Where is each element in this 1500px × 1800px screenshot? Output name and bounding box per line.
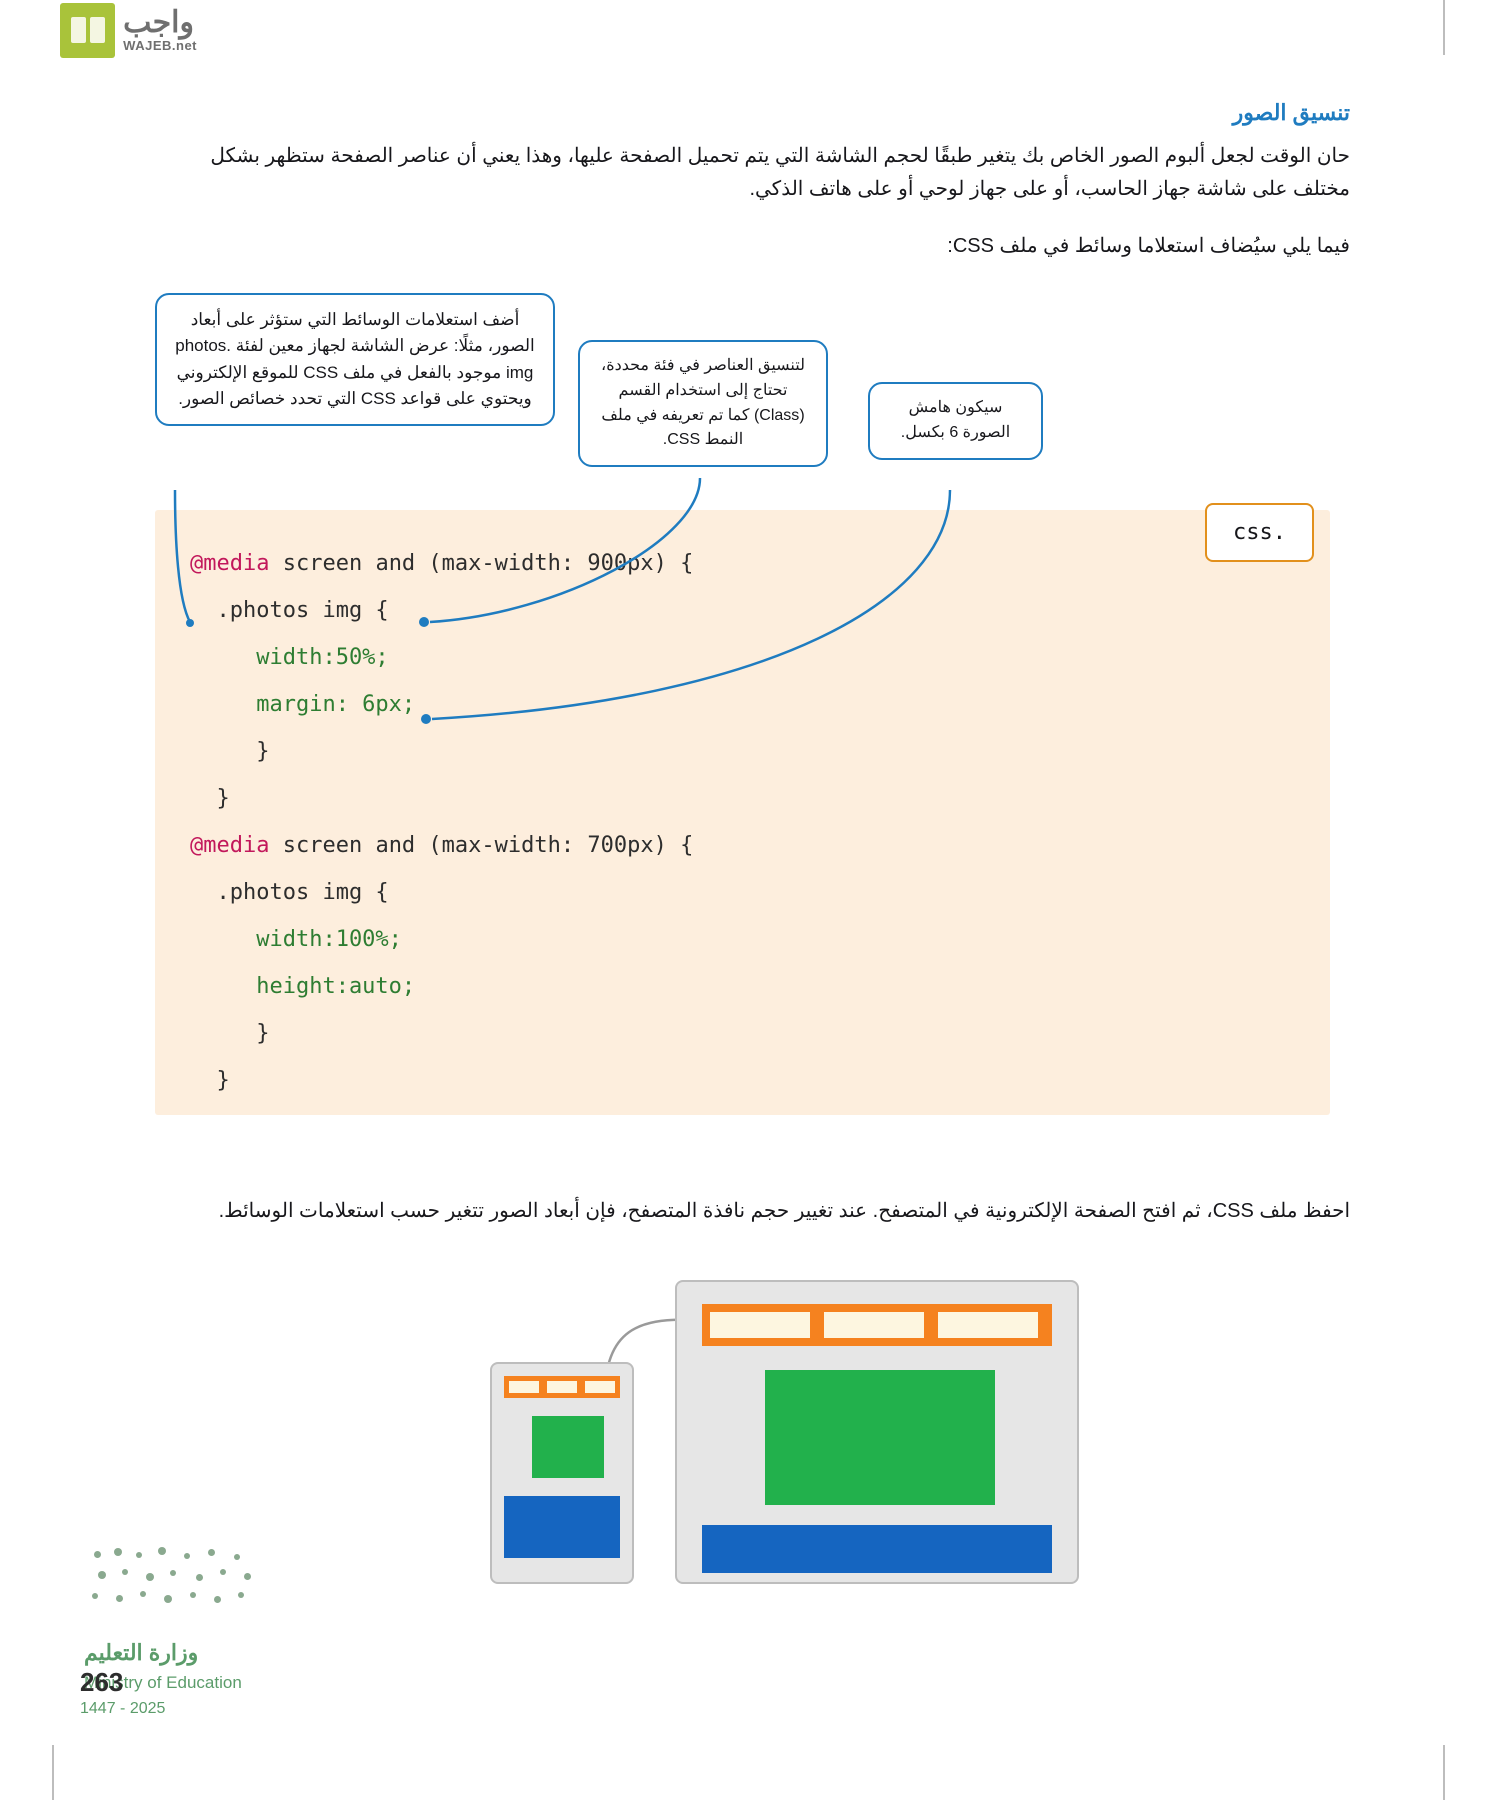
code-text: @media screen and (max-width: 900px) { .…	[190, 540, 1310, 1104]
callout-class-usage: لتنسيق العناصر في فئة محددة، تحتاج إلى ا…	[578, 340, 828, 467]
page-number: 263	[80, 1667, 123, 1698]
callout-image-margin: سيكون هامش الصورة 6 بكسل.	[868, 382, 1043, 460]
phone-mockup	[490, 1362, 634, 1584]
desktop-footer-block	[702, 1525, 1052, 1573]
lead-in-paragraph: فيما يلي سيُضاف استعلاما وسائط في ملف CS…	[150, 230, 1350, 263]
phone-image-block	[532, 1416, 604, 1478]
desktop-navbar	[702, 1304, 1052, 1346]
responsive-illustration	[490, 1280, 1150, 1620]
page-footer: وزارة التعليم Ministry of Education 263 …	[80, 1545, 400, 1725]
file-type-badge: .css	[1205, 503, 1314, 562]
intro-paragraph: حان الوقت لجعل ألبوم الصور الخاص بك يتغي…	[150, 140, 1350, 206]
article-content: تنسيق الصور حان الوقت لجعل ألبوم الصور ا…	[150, 100, 1350, 269]
page-edge-rule-left-bottom	[52, 1745, 54, 1800]
callout-media-queries: أضف استعلامات الوسائط التي ستؤثر على أبع…	[155, 293, 555, 426]
desktop-mockup	[675, 1280, 1079, 1584]
brand-word: واجب	[123, 8, 194, 38]
edition-years: 2025 - 1447	[80, 1700, 165, 1718]
brand-sub: WAJEB.net	[123, 38, 197, 53]
closing-paragraph: احفظ ملف CSS، ثم افتح الصفحة الإلكترونية…	[150, 1195, 1350, 1228]
book-icon	[60, 3, 115, 58]
page-edge-rule-bottom	[1443, 1745, 1445, 1800]
phone-navbar	[504, 1376, 620, 1398]
code-block: @media screen and (max-width: 900px) { .…	[155, 510, 1330, 1115]
wajeb-watermark-logo: واجب WAJEB.net	[0, 0, 200, 60]
phone-footer-block	[504, 1496, 620, 1558]
decorative-dots	[88, 1545, 268, 1615]
desktop-image-block	[765, 1370, 995, 1505]
page-title: تنسيق الصور	[150, 100, 1350, 126]
page-edge-rule-top	[1443, 0, 1445, 55]
ministry-name-ar: وزارة التعليم	[84, 1640, 198, 1666]
